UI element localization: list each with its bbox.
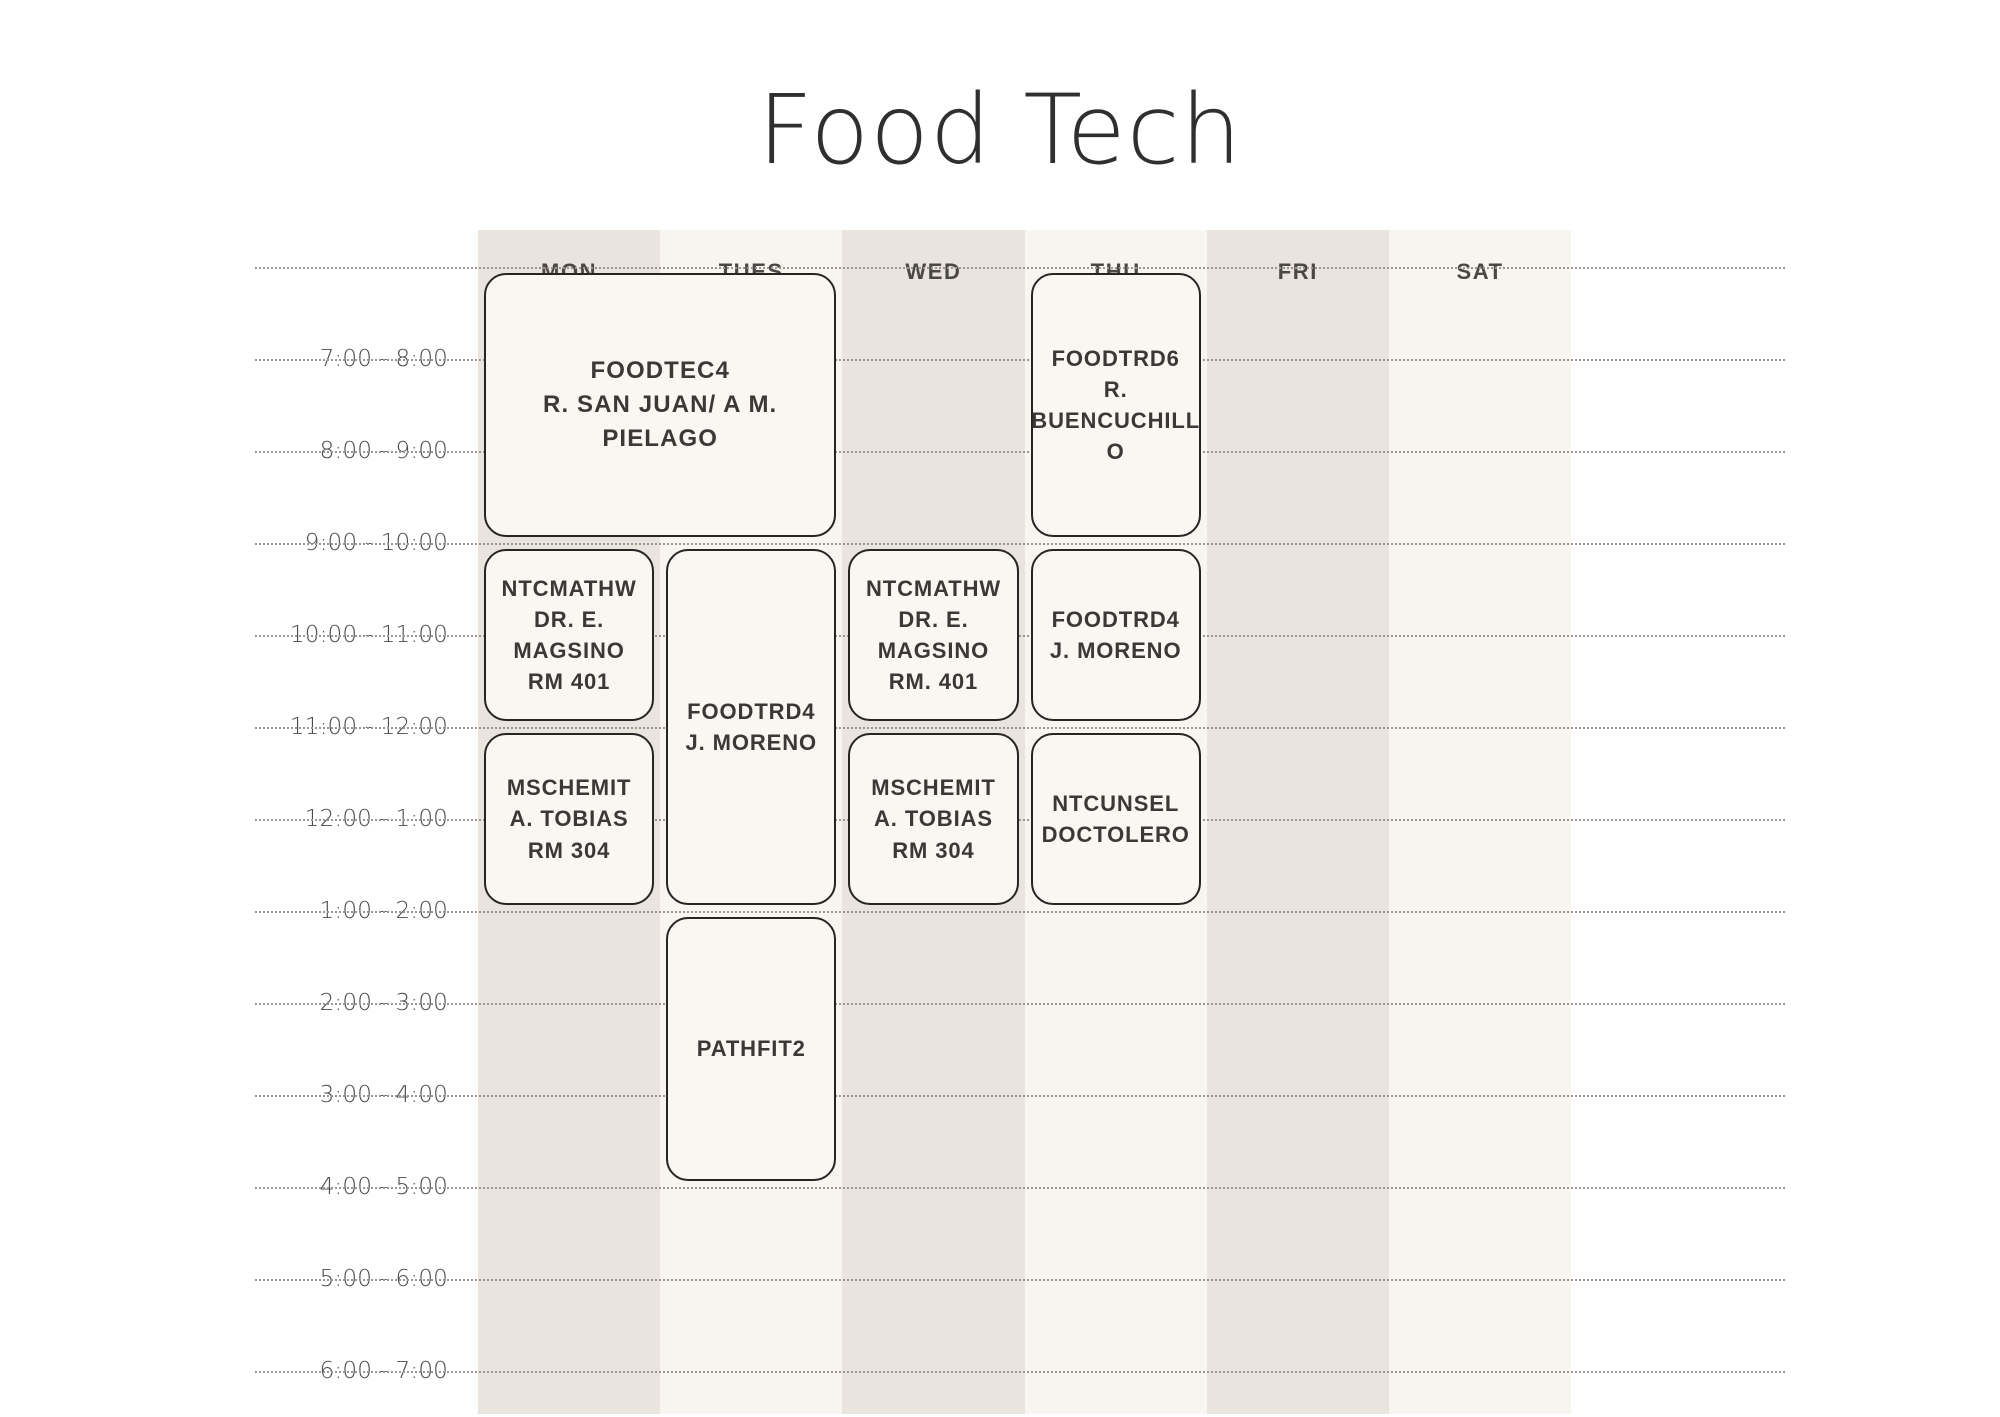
day-header-wed[interactable]: WED: [842, 230, 1024, 313]
event-detail-line: BUENCUCHILL: [1031, 405, 1200, 436]
event-text: FOODTRD4J. MORENO: [1050, 604, 1182, 666]
event-course-code: NTCMATHW: [860, 573, 1006, 604]
event-detail-line: DR. E. MAGSINO: [860, 604, 1006, 666]
event-detail-line: RM. 401: [860, 666, 1006, 697]
event-course-code: FOODTEC4: [496, 354, 824, 388]
event-detail-line: RM 304: [871, 835, 996, 866]
row-separator: [255, 1187, 1785, 1189]
event-course-code: PATHFIT2: [697, 1033, 806, 1064]
row-separator: [255, 543, 1785, 545]
event-card[interactable]: MSCHEMITA. TOBIASRM 304: [848, 733, 1018, 905]
event-course-code: FOODTRD4: [1050, 604, 1182, 635]
event-text: FOODTRD6R.BUENCUCHILLO: [1031, 343, 1200, 468]
event-detail-line: RM 401: [502, 666, 637, 697]
event-detail-line: DR. E.: [502, 604, 637, 635]
event-detail-line: J. MORENO: [1050, 635, 1182, 666]
event-detail-line: O: [1031, 436, 1200, 467]
event-card[interactable]: MSCHEMITA. TOBIASRM 304: [484, 733, 654, 905]
row-separator: [255, 1371, 1785, 1373]
event-detail-line: R.: [1031, 374, 1200, 405]
row-separator: [255, 267, 1785, 269]
day-header-sat[interactable]: SAT: [1389, 230, 1571, 313]
event-text: PATHFIT2: [697, 1033, 806, 1064]
event-detail-line: MAGSINO: [502, 635, 637, 666]
event-text: FOODTRD4J. MORENO: [686, 696, 818, 758]
row-separator: [255, 1003, 1785, 1005]
day-header-label: FRI: [1278, 259, 1318, 285]
day-column-sat: [1389, 230, 1571, 1414]
event-detail-line: RM 304: [507, 835, 632, 866]
day-header-fri[interactable]: FRI: [1207, 230, 1389, 313]
time-axis: 7:00 - 8:008:00 - 9:009:00 - 10:0010:00 …: [248, 313, 448, 1417]
event-course-code: NTCUNSEL: [1042, 788, 1190, 819]
schedule-page: Food Tech MONTUESWEDTHUFRISAT 7:00 - 8:0…: [0, 0, 2000, 1414]
event-text: NTCMATHWDR. E. MAGSINORM. 401: [860, 573, 1006, 698]
row-separator: [255, 1095, 1785, 1097]
day-header-label: WED: [905, 259, 961, 285]
event-card[interactable]: NTCUNSELDOCTOLERO: [1031, 733, 1201, 905]
event-detail-line: A. TOBIAS: [507, 803, 632, 834]
event-text: NTCUNSELDOCTOLERO: [1042, 788, 1190, 850]
event-course-code: FOODTRD6: [1031, 343, 1200, 374]
event-course-code: MSCHEMIT: [507, 772, 632, 803]
event-course-code: MSCHEMIT: [871, 772, 996, 803]
row-separator: [255, 911, 1785, 913]
day-header-label: SAT: [1457, 259, 1504, 285]
page-title: Food Tech: [0, 82, 2000, 178]
day-column-fri: [1207, 230, 1389, 1414]
event-course-code: FOODTRD4: [686, 696, 818, 727]
event-detail-line: R. SAN JUAN/ A M. PIELAGO: [496, 388, 824, 456]
event-card[interactable]: NTCMATHWDR. E.MAGSINORM 401: [484, 549, 654, 721]
event-course-code: NTCMATHW: [502, 573, 637, 604]
event-card[interactable]: FOODTRD4J. MORENO: [666, 549, 836, 905]
event-text: NTCMATHWDR. E.MAGSINORM 401: [502, 573, 637, 698]
event-card[interactable]: FOODTRD6R.BUENCUCHILLO: [1031, 273, 1201, 537]
event-text: FOODTEC4R. SAN JUAN/ A M. PIELAGO: [496, 354, 824, 456]
event-card[interactable]: FOODTEC4R. SAN JUAN/ A M. PIELAGO: [484, 273, 836, 537]
event-detail-line: J. MORENO: [686, 727, 818, 758]
event-text: MSCHEMITA. TOBIASRM 304: [507, 772, 632, 866]
event-card[interactable]: FOODTRD4J. MORENO: [1031, 549, 1201, 721]
event-text: MSCHEMITA. TOBIASRM 304: [871, 772, 996, 866]
row-separator: [255, 727, 1785, 729]
event-card[interactable]: NTCMATHWDR. E. MAGSINORM. 401: [848, 549, 1018, 721]
event-detail-line: A. TOBIAS: [871, 803, 996, 834]
event-card[interactable]: PATHFIT2: [666, 917, 836, 1181]
event-detail-line: DOCTOLERO: [1042, 819, 1190, 850]
row-separator: [255, 1279, 1785, 1281]
